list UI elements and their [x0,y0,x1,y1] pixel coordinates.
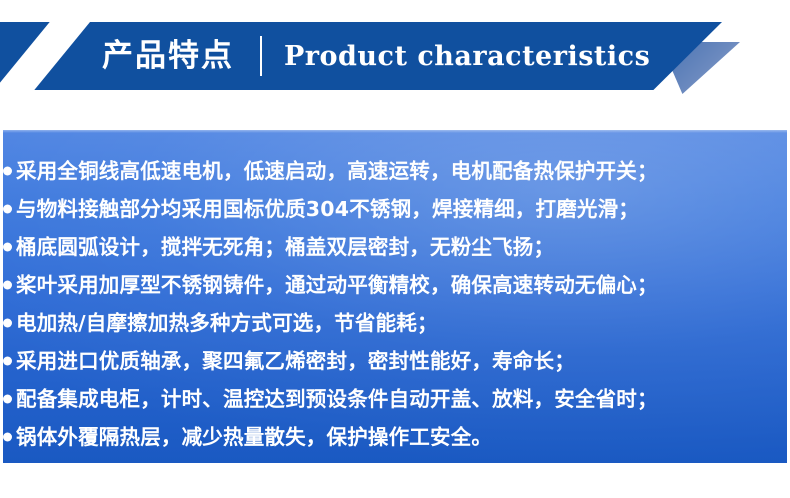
bullet-dot-icon [3,281,12,290]
header-title-english: Product characteristics [284,43,650,70]
header-title-divider [260,36,262,76]
list-item: 电加热/自摩擦加热多种方式可选，节省能耗； [3,304,787,342]
header-content: 产品特点 Product characteristics [0,22,722,90]
feature-text: 配备集成电柜，计时、温控达到预设条件自动开盖、放料，安全省时； [16,389,658,410]
bullet-dot-icon [3,167,12,176]
features-panel: 采用全铜线高低速电机，低速启动，高速运转，电机配备热保护开关；与物料接触部分均采… [3,130,787,463]
bullet-dot-icon [3,433,12,442]
list-item: 桶底圆弧设计，搅拌无死角；桶盖双层密封，无粉尘飞扬； [3,228,787,266]
feature-bullet-list: 采用全铜线高低速电机，低速启动，高速运转，电机配备热保护开关；与物料接触部分均采… [3,152,787,456]
feature-text: 桨叶采用加厚型不锈钢铸件，通过动平衡精校，确保高速转动无偏心； [16,275,658,296]
feature-text: 电加热/自摩擦加热多种方式可选，节省能耗； [16,313,438,334]
bullet-dot-icon [3,319,12,328]
bullet-dot-icon [3,205,12,214]
feature-text: 与物料接触部分均采用国标优质304不锈钢，焊接精细，打磨光滑； [16,199,639,220]
header-banner: 产品特点 Product characteristics [0,22,790,90]
bullet-dot-icon [3,357,12,366]
panel-top-highlight [3,130,787,133]
feature-text: 锅体外覆隔热层，减少热量散失，保护操作工安全。 [16,427,492,448]
feature-text: 采用全铜线高低速电机，低速启动，高速运转，电机配备热保护开关； [16,161,658,182]
list-item: 采用全铜线高低速电机，低速启动，高速运转，电机配备热保护开关； [3,152,787,190]
header-title-chinese: 产品特点 [102,41,234,72]
list-item: 桨叶采用加厚型不锈钢铸件，通过动平衡精校，确保高速转动无偏心； [3,266,787,304]
bullet-dot-icon [3,243,12,252]
list-item: 与物料接触部分均采用国标优质304不锈钢，焊接精细，打磨光滑； [3,190,787,228]
feature-text: 桶底圆弧设计，搅拌无死角；桶盖双层密封，无粉尘飞扬； [16,237,554,258]
feature-text: 采用进口优质轴承，聚四氟乙烯密封，密封性能好，寿命长； [16,351,575,372]
bullet-dot-icon [3,395,12,404]
list-item: 锅体外覆隔热层，减少热量散失，保护操作工安全。 [3,418,787,456]
list-item: 采用进口优质轴承，聚四氟乙烯密封，密封性能好，寿命长； [3,342,787,380]
list-item: 配备集成电柜，计时、温控达到预设条件自动开盖、放料，安全省时； [3,380,787,418]
product-characteristics-banner: 产品特点 Product characteristics 采用全铜线高低速电机，… [0,0,790,498]
